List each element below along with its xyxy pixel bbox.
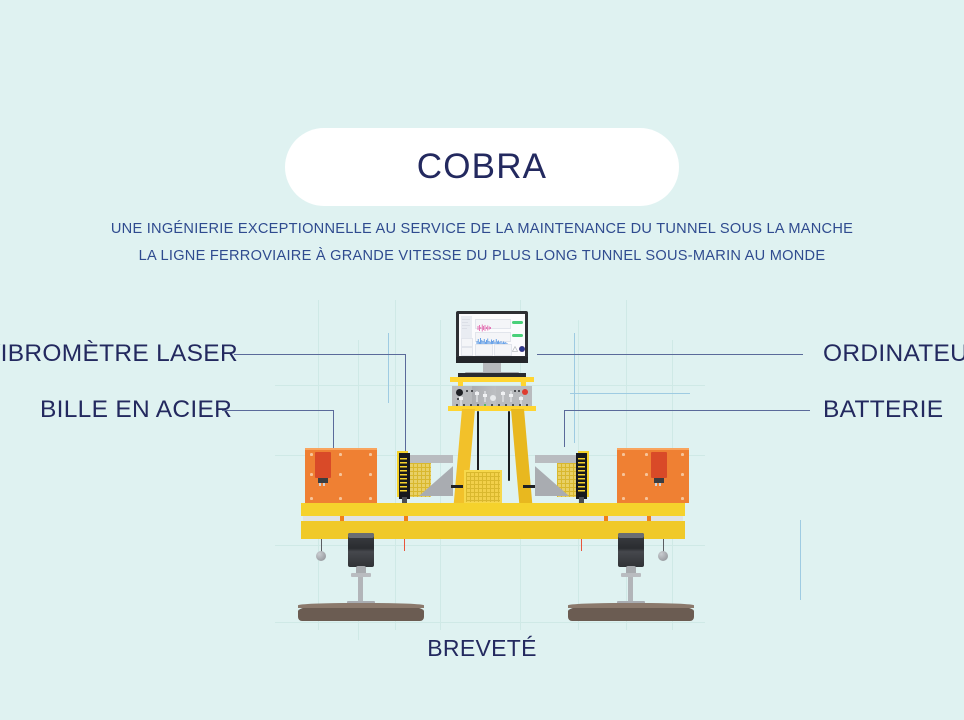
status-bar-green bbox=[512, 334, 523, 337]
steel-ball-right bbox=[658, 551, 668, 561]
pink-waveform-chart bbox=[477, 319, 493, 327]
gantry-leg-right bbox=[511, 409, 533, 509]
red-module-left bbox=[315, 452, 331, 478]
monitor-screen-dashboard bbox=[459, 314, 525, 356]
waveform-icon bbox=[477, 324, 493, 332]
grey-module-right bbox=[535, 455, 581, 496]
red-module-right bbox=[651, 452, 667, 478]
center-mesh-grid bbox=[466, 472, 500, 502]
emergency-stop-button bbox=[522, 389, 528, 395]
cable-right bbox=[508, 411, 510, 481]
steel-ball-left bbox=[316, 551, 326, 561]
main-cross-beam-top bbox=[301, 503, 685, 516]
seal-badge-icon bbox=[519, 346, 525, 352]
blue-waveform-chart bbox=[476, 332, 509, 340]
grey-module-left bbox=[407, 455, 453, 496]
warning-triangle-icon bbox=[512, 346, 518, 352]
poster-canvas: COBRA UNE INGÉNIERIE EXCEPTIONNELLE AU S… bbox=[0, 0, 964, 720]
cobra-machine-illustration bbox=[0, 0, 964, 720]
status-bar-green bbox=[512, 321, 523, 324]
